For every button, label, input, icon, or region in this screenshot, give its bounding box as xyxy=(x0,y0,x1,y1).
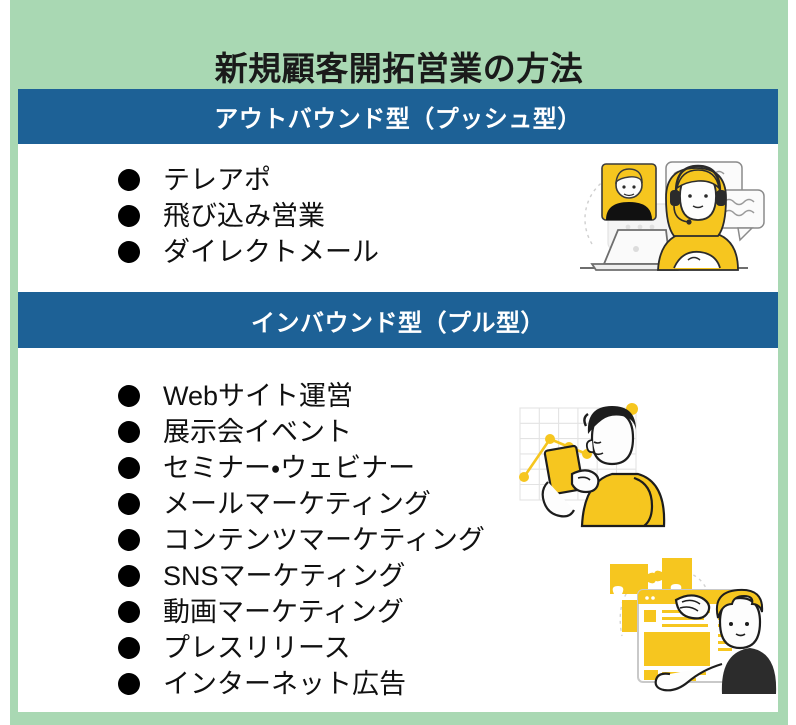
list-inbound: Webサイト運営 展示会イベント セミナー・ウェビナー メールマーケティング コ… xyxy=(118,378,485,702)
list-item-label: 動画マーケティング xyxy=(163,599,404,626)
bullet-icon xyxy=(118,205,140,227)
list-item-label: ダイレクトメール xyxy=(163,239,379,266)
list-item-label: インターネット広告 xyxy=(163,671,406,698)
list-item-label: 展示会イベント xyxy=(163,419,352,446)
bullet-icon xyxy=(118,637,140,659)
bullet-icon xyxy=(118,421,140,443)
bullet-icon xyxy=(118,601,140,623)
bullet-icon xyxy=(118,673,140,695)
bullet-icon xyxy=(118,493,140,515)
list-item-label: 飛び込み営業 xyxy=(163,203,325,230)
list-item: ダイレクトメール xyxy=(118,234,379,270)
list-item: メールマーケティング xyxy=(118,486,485,522)
list-item: インターネット広告 xyxy=(118,666,485,702)
list-item: プレスリリース xyxy=(118,630,485,666)
list-item: テレアポ xyxy=(118,162,379,198)
bullet-icon xyxy=(118,241,140,263)
section-header-inbound: インバウンド型（プル型） xyxy=(18,292,778,348)
list-item: 動画マーケティング xyxy=(118,594,485,630)
list-item: コンテンツマーケティング xyxy=(118,522,485,558)
list-item: 展示会イベント xyxy=(118,414,485,450)
page-title: 新規顧客開拓営業の方法 xyxy=(10,42,788,96)
list-item-label: コンテンツマーケティング xyxy=(163,527,485,554)
bullet-icon xyxy=(118,565,140,587)
bullet-icon xyxy=(118,169,140,191)
list-item-label: SNSマーケティング xyxy=(163,563,405,590)
section-header-outbound: アウトバウンド型（プッシュ型） xyxy=(18,89,778,144)
list-item: セミナー・ウェビナー xyxy=(118,450,485,486)
list-item-label: セミナー・ウェビナー xyxy=(163,455,415,482)
list-outbound: テレアポ 飛び込み営業 ダイレクトメール xyxy=(118,162,379,270)
slide-root: 新規顧客開拓営業の方法 アウトバウンド型（プッシュ型） テレアポ 飛び込み営業 … xyxy=(0,0,796,725)
list-item-label: メールマーケティング xyxy=(163,491,431,518)
list-item: Webサイト運営 xyxy=(118,378,485,414)
analytics-illustration xyxy=(508,382,708,532)
call-center-illustration xyxy=(562,152,768,280)
list-item-label: テレアポ xyxy=(163,167,271,194)
list-item-label: Webサイト運営 xyxy=(163,383,353,410)
bullet-icon xyxy=(118,385,140,407)
web-content-illustration xyxy=(600,548,780,698)
bullet-icon xyxy=(118,529,140,551)
list-item: SNSマーケティング xyxy=(118,558,485,594)
bullet-icon xyxy=(118,457,140,479)
list-item: 飛び込み営業 xyxy=(118,198,379,234)
list-item-label: プレスリリース xyxy=(163,635,351,662)
